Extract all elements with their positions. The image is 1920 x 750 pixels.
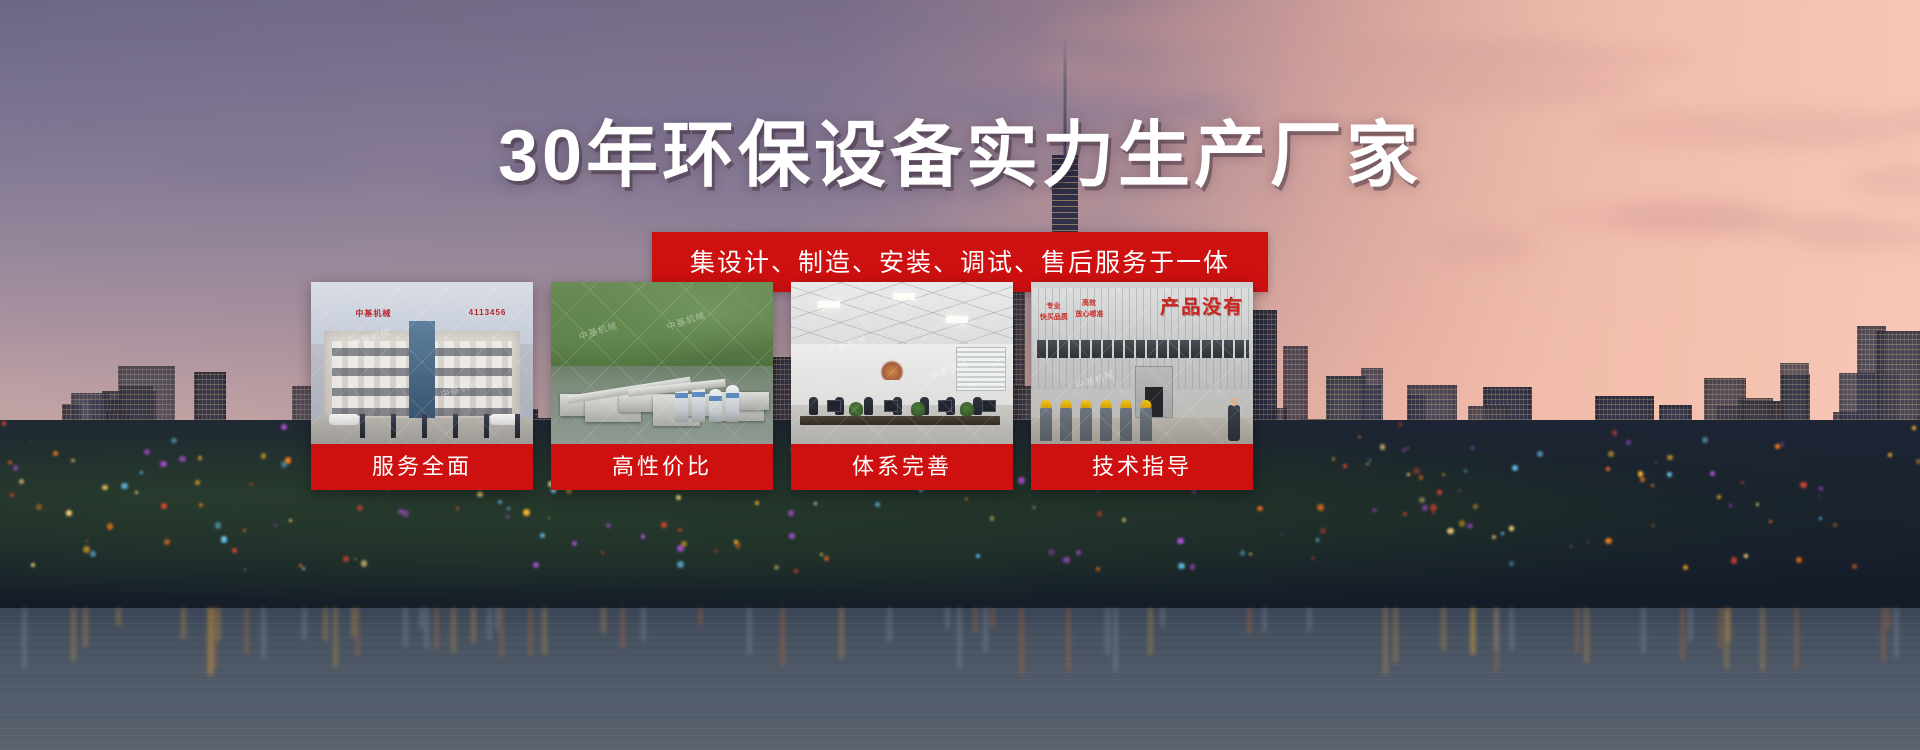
water-reflection [1882, 608, 1885, 661]
shoreline-light [161, 503, 167, 509]
cloud [1031, 57, 1131, 81]
shoreline-light [171, 438, 176, 443]
photo-silo [726, 385, 739, 422]
shoreline-light [1800, 482, 1807, 489]
shoreline-light [540, 533, 545, 538]
shoreline-light [498, 500, 502, 504]
building-phone-sign: 4113456 [469, 308, 507, 317]
photo-building-atrium [409, 321, 436, 428]
shoreline-light [249, 483, 252, 486]
shoreline-light [548, 517, 550, 519]
page-title: 30年环保设备实力生产厂家 [0, 96, 1920, 201]
water-reflection [621, 608, 624, 649]
shoreline-light [1655, 461, 1658, 464]
water-reflection [888, 608, 891, 643]
shoreline-light [1249, 553, 1251, 555]
shoreline-light [1407, 473, 1410, 476]
shoreline-light [1458, 489, 1460, 491]
shoreline-light [1063, 557, 1070, 564]
photo-potted-plant [960, 402, 974, 416]
water-reflection [1263, 608, 1266, 632]
shoreline-light [36, 504, 42, 510]
shoreline-light [2, 421, 6, 425]
shoreline-light [398, 509, 403, 514]
photo-plant-structures [555, 357, 768, 441]
water-reflection [984, 608, 987, 652]
shoreline-light [361, 560, 367, 566]
shoreline-light [8, 461, 11, 464]
water-reflection [1308, 608, 1311, 632]
water-reflection [425, 608, 428, 649]
water-reflection [1576, 608, 1579, 653]
shoreline-light [533, 562, 539, 568]
photo-monitor [884, 400, 898, 412]
photo-staff-figure [484, 414, 489, 438]
shoreline-light [1281, 533, 1284, 536]
shoreline-light [53, 451, 58, 456]
water-reflection [1384, 608, 1387, 675]
factory-slogan: 放心哪准 [1075, 311, 1103, 320]
photo-worker-helmet [1100, 407, 1112, 441]
water-reflection [500, 608, 503, 658]
shoreline-light [1612, 430, 1617, 435]
shoreline-light [1667, 472, 1672, 477]
shoreline-light [1626, 440, 1631, 445]
shoreline-light [794, 569, 798, 573]
shoreline-light [1076, 550, 1081, 555]
water-reflection [217, 608, 220, 642]
shoreline-light [1509, 561, 1514, 566]
photo-ceiling-light [946, 316, 968, 323]
shoreline-light [1796, 557, 1802, 563]
shoreline-light [1366, 463, 1368, 465]
water-reflection [1394, 608, 1397, 663]
shoreline-light [875, 502, 880, 507]
shoreline-light [1177, 538, 1183, 544]
water-reflection [1681, 608, 1684, 660]
photo-worker-helmet [1060, 407, 1072, 441]
shoreline-light [1113, 535, 1115, 537]
shoreline-light [523, 509, 529, 515]
shoreline-light [1607, 539, 1610, 542]
cloud [1535, 203, 1792, 233]
shoreline-light [506, 515, 509, 518]
shoreline-light [195, 480, 200, 485]
water-reflection [1642, 608, 1645, 653]
water-reflection [84, 608, 87, 648]
water-reflection [1727, 608, 1730, 642]
photo-staff-figure [422, 414, 427, 438]
shoreline-light [1638, 471, 1644, 477]
shoreline-light [144, 449, 150, 455]
water-reflection [488, 608, 491, 641]
water-reflection [1719, 608, 1722, 650]
shoreline-light [135, 491, 138, 494]
shoreline-light [215, 522, 222, 529]
shoreline-light [1769, 520, 1772, 523]
photo-desk [929, 416, 1000, 425]
shoreline-light [789, 533, 795, 539]
shoreline-light [107, 523, 114, 530]
shoreline-light [1916, 459, 1920, 464]
shoreline-light [1819, 517, 1822, 520]
shoreline-light [1048, 549, 1055, 556]
water-reflection [1067, 608, 1070, 673]
shoreline-light [1403, 512, 1407, 516]
shoreline-light [1464, 469, 1467, 472]
photo-staff-figure [515, 414, 520, 438]
shoreline-light [814, 502, 817, 505]
shoreline-light [601, 551, 604, 554]
photo-worker-helmet [1120, 407, 1132, 441]
shoreline-light [105, 486, 108, 489]
shoreline-light [1537, 451, 1543, 457]
water-reflection [1895, 608, 1898, 657]
shoreline-light [677, 561, 684, 568]
shoreline-light [1442, 473, 1445, 476]
shoreline-light [1332, 457, 1336, 461]
factory-slogan: 快买品质 [1040, 314, 1068, 323]
shoreline-light [572, 541, 577, 546]
shoreline-light [1096, 567, 1100, 571]
shoreline-light [343, 556, 349, 562]
shoreline-light [1432, 511, 1435, 514]
shoreline-light [1471, 446, 1474, 449]
shoreline-light [1833, 523, 1837, 527]
shoreline-light [965, 498, 967, 500]
shoreline-light [31, 563, 35, 567]
water-reflection [435, 608, 438, 651]
shoreline-light [774, 565, 779, 570]
shoreline-light [1419, 475, 1424, 480]
factory-main-sign: 产品没有 [1160, 292, 1244, 319]
building-company-sign: 中基机械 [355, 308, 391, 319]
photo-plant-block [739, 392, 769, 411]
shoreline-light [19, 479, 24, 484]
water-reflection [946, 608, 949, 629]
shoreline-light [1717, 495, 1721, 499]
photo-office-worker [973, 397, 982, 415]
feature-card[interactable]: 产品没有 专业 快买品质 高效 放心哪准 中基机械 技术指导 [1031, 282, 1253, 490]
shoreline-light [1178, 563, 1184, 569]
water-reflection [404, 608, 407, 647]
water-reflection [1471, 608, 1474, 655]
shoreline-light [90, 551, 96, 557]
shoreline-light [1447, 528, 1453, 534]
shoreline-light [1122, 518, 1126, 522]
water-reflection [334, 608, 337, 667]
cloud [772, 18, 1074, 30]
photo-worker-helmet [1080, 407, 1092, 441]
shoreline-light [289, 519, 292, 522]
water-reflection [1689, 608, 1692, 642]
shoreline-light [30, 441, 32, 443]
shoreline-light [1398, 422, 1403, 427]
water-reflection [1020, 608, 1023, 675]
shoreline-light [661, 522, 667, 528]
shoreline-light [160, 461, 166, 467]
shoreline-light [681, 541, 687, 547]
shoreline-light [1407, 447, 1409, 449]
photo-ceiling [791, 282, 1013, 347]
card-photo-office-interior: 中基机械 中基机械 [791, 282, 1013, 444]
cloud [1045, 15, 1263, 44]
shoreline-light [1606, 467, 1610, 471]
shoreline-light [1372, 508, 1377, 513]
shoreline-light [456, 507, 459, 510]
shoreline-light [1358, 436, 1361, 439]
shoreline-light [755, 501, 759, 505]
water-reflection [699, 608, 702, 626]
photo-green-fields [551, 282, 773, 366]
water-reflection [529, 608, 532, 657]
water-reflection [1248, 608, 1251, 634]
shoreline-light [198, 456, 203, 461]
shoreline-light [1097, 511, 1102, 516]
water-reflection [840, 608, 843, 660]
shoreline-light [1818, 495, 1820, 497]
water-reflection [1442, 608, 1445, 651]
water-reflection [72, 608, 75, 661]
shoreline-light [243, 529, 246, 532]
shoreline-light [1744, 554, 1748, 558]
water-reflection [117, 608, 120, 626]
shoreline-light [788, 510, 795, 517]
photo-potted-plant [849, 402, 863, 416]
shoreline-light [1888, 453, 1892, 457]
shoreline-light [1422, 505, 1428, 511]
shoreline-light [1240, 550, 1245, 555]
card-label: 体系完善 [791, 444, 1013, 490]
shoreline-light [1097, 490, 1099, 492]
shoreline-light [281, 461, 288, 468]
shoreline-light [1512, 465, 1518, 471]
shoreline-light [1683, 565, 1688, 570]
factory-slogan: 高效 [1082, 300, 1096, 309]
shoreline-light [1402, 448, 1406, 452]
water-reflection [356, 608, 359, 656]
photo-staff-figure [453, 414, 458, 438]
card-label: 技术指导 [1031, 444, 1253, 490]
shoreline-light [1320, 528, 1326, 534]
photo-wall-emblem [880, 360, 904, 380]
river-water [0, 608, 1920, 750]
shoreline-light [1608, 451, 1614, 457]
water-reflection [1761, 608, 1764, 672]
shoreline-light [1492, 535, 1496, 539]
water-reflection [213, 608, 216, 668]
water-reflection [420, 608, 423, 629]
shoreline-light [678, 528, 682, 532]
water-reflection [352, 608, 355, 637]
shoreline-light [1756, 503, 1759, 506]
water-reflection [182, 608, 185, 640]
shoreline-light [1033, 506, 1036, 509]
shoreline-light [274, 524, 277, 527]
shoreline-light [1667, 455, 1673, 461]
factory-slogan: 专业 [1047, 303, 1061, 312]
shoreline-light [1741, 481, 1744, 484]
photo-potted-plant [911, 402, 925, 416]
water-reflection [1114, 608, 1117, 671]
shoreline-light [1780, 442, 1785, 447]
water-reflection [543, 608, 546, 656]
shoreline-light [354, 558, 356, 560]
water-reflection [1161, 608, 1164, 628]
shoreline-light [66, 510, 72, 516]
shoreline-light [1651, 484, 1654, 487]
shoreline-light [86, 540, 88, 542]
shoreline-light [606, 523, 611, 528]
photo-monitor [982, 400, 996, 412]
shoreline-light [1459, 520, 1465, 526]
photo-staff-figure [391, 414, 396, 438]
feature-card[interactable]: 中基机械 4113456 中基机械 中基机械 服务全面 [311, 282, 533, 490]
shoreline-light [1343, 464, 1347, 468]
water-reflection [1795, 608, 1798, 669]
photo-worker-helmet [1140, 407, 1152, 441]
photo-monitor [938, 400, 952, 412]
water-reflection [1495, 608, 1498, 672]
photo-manager [1228, 405, 1240, 441]
feature-card[interactable]: 中基机械 中基机械 高性价比 [551, 282, 773, 490]
shoreline-light [1190, 564, 1195, 569]
water-reflection [1149, 608, 1152, 655]
shoreline-light [302, 567, 305, 570]
photo-office-worker [864, 397, 873, 415]
water-reflection [262, 608, 265, 659]
water-reflection [958, 608, 961, 670]
photo-silo [709, 389, 722, 423]
water-reflection [324, 608, 327, 642]
shoreline-light [1192, 490, 1196, 494]
photo-clerestory-windows [1035, 340, 1248, 358]
shoreline-light [1316, 538, 1319, 541]
water-reflection [1510, 608, 1513, 651]
cloud [468, 11, 608, 29]
water-reflection [602, 608, 605, 634]
water-reflection [991, 608, 994, 629]
card-photo-aerial-plant: 中基机械 中基机械 [551, 282, 773, 444]
shoreline-light [1775, 444, 1780, 449]
card-photo-headquarters: 中基机械 4113456 中基机械 中基机械 [311, 282, 533, 444]
shoreline-light [1710, 471, 1715, 476]
shoreline-light [477, 492, 482, 497]
shoreline-light [281, 424, 287, 430]
shoreline-light [1467, 523, 1473, 529]
photo-car [329, 414, 359, 425]
shoreline-light [1640, 477, 1645, 482]
water-reflection [472, 608, 475, 643]
shoreline-light [1731, 557, 1737, 563]
water-reflection [245, 608, 248, 655]
shoreline-light [232, 548, 237, 553]
card-label: 服务全面 [311, 444, 533, 490]
shoreline-light [1702, 437, 1708, 443]
water-reflection [1887, 608, 1890, 630]
shoreline-light [1819, 486, 1824, 491]
shoreline-light [71, 459, 74, 462]
shoreline-light [1311, 556, 1315, 560]
shoreline-light [714, 549, 719, 554]
shoreline-light [244, 568, 246, 570]
shoreline-light [1473, 504, 1478, 509]
shoreline-light [357, 505, 363, 511]
shoreline-light [676, 495, 681, 500]
water-reflection [974, 608, 977, 633]
photo-ceiling-light [818, 301, 840, 308]
shoreline-light [641, 534, 646, 539]
water-reflection [1585, 608, 1588, 664]
water-reflection [452, 608, 455, 654]
shoreline-light [1852, 564, 1857, 569]
shoreline-light [1430, 504, 1437, 511]
water-reflection [210, 608, 213, 676]
photo-monitor [827, 400, 841, 412]
water-reflection [642, 608, 645, 642]
shoreline-light [140, 471, 143, 474]
card-photo-factory-workers: 产品没有 专业 快买品质 高效 放心哪准 中基机械 [1031, 282, 1253, 444]
shoreline-light [1652, 524, 1655, 527]
feature-card-row: 中基机械 4113456 中基机械 中基机械 服务全面 中基机械 中基机械 高 [311, 282, 1253, 490]
shoreline-light [1501, 532, 1504, 535]
shoreline-light [164, 539, 170, 545]
shoreline-light [1509, 526, 1513, 530]
shoreline-light [1912, 426, 1916, 430]
shoreline-light [1317, 504, 1324, 511]
shoreline-light [507, 507, 510, 510]
photo-worker-helmet [1040, 407, 1052, 441]
shoreline-light [1587, 541, 1590, 544]
water-reflection [496, 608, 499, 630]
shoreline-light [10, 493, 14, 497]
water-reflection [781, 608, 784, 667]
shoreline-light [83, 546, 90, 553]
shoreline-light [824, 556, 829, 561]
shoreline-light [1419, 497, 1425, 503]
shoreline-light [199, 503, 204, 508]
shoreline-light [1570, 545, 1572, 547]
shoreline-light [1257, 506, 1262, 511]
water-reflection [748, 608, 751, 655]
photo-office-worker [809, 397, 818, 415]
shoreline-light [1380, 444, 1386, 450]
shoreline-light [820, 553, 823, 556]
hero-banner: 30年环保设备实力生产厂家 集设计、制造、安装、调试、售后服务于一体 中基机械 … [0, 0, 1920, 750]
water-reflection [1106, 608, 1109, 656]
photo-ceiling-light [893, 293, 915, 300]
water-reflection [23, 608, 26, 668]
shoreline-light [179, 456, 186, 463]
shoreline-light [1729, 504, 1732, 507]
shoreline-light [1369, 459, 1372, 462]
shoreline-light [1437, 490, 1442, 495]
shoreline-light [990, 516, 995, 521]
shoreline-light [13, 465, 18, 470]
photo-staff-figure [360, 414, 365, 438]
card-label: 高性价比 [551, 444, 773, 490]
shoreline-light [976, 554, 980, 558]
water-reflection [303, 608, 306, 640]
shoreline-light [221, 536, 227, 542]
feature-card[interactable]: 中基机械 中基机械 体系完善 [791, 282, 1013, 490]
shoreline-light [121, 483, 127, 489]
shoreline-light [261, 453, 267, 459]
shoreline-light [1413, 468, 1419, 474]
